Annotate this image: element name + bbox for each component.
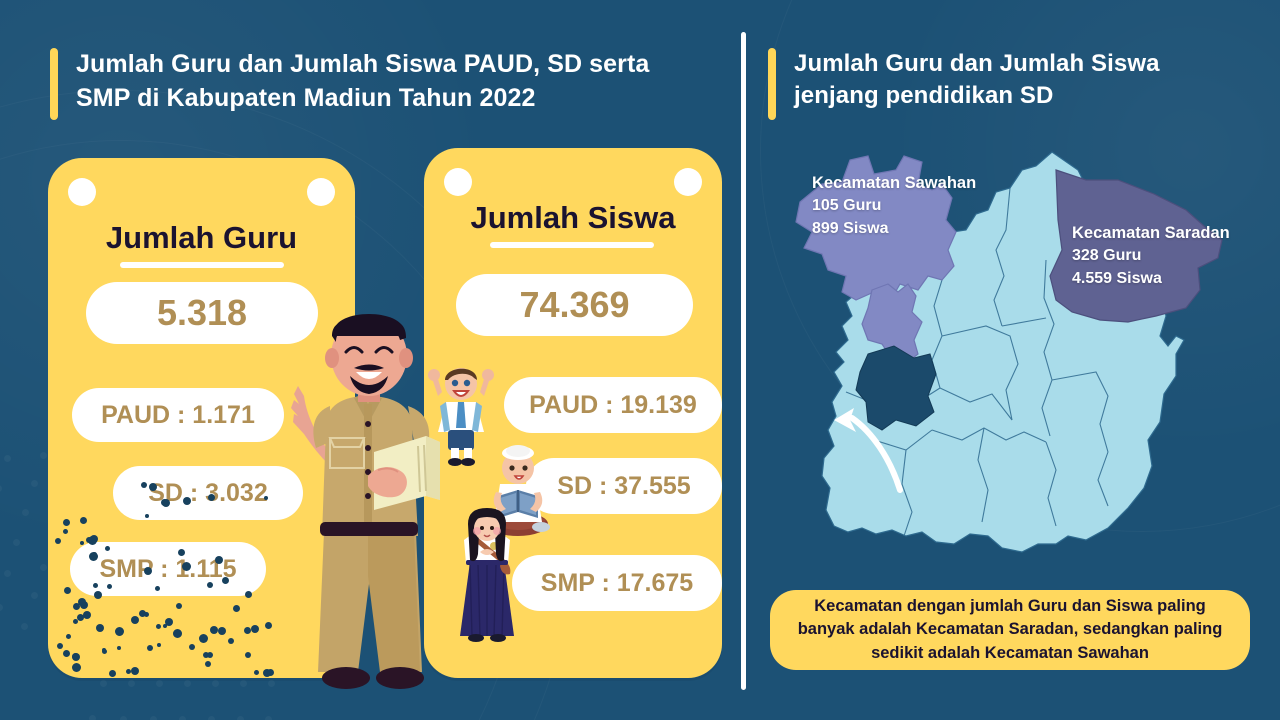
card-heading-guru: Jumlah Guru [48,220,355,256]
right-title-text: Jumlah Guru dan Jumlah Siswa jenjang pen… [794,48,1238,112]
sawahan-students: 899 Siswa [812,218,976,241]
card-hole-icon [444,168,472,196]
card-heading-rule [120,262,284,268]
saradan-students: 4.559 Siswa [1072,268,1230,291]
sawahan-teachers: 105 Guru [812,195,976,218]
right-panel-title: Jumlah Guru dan Jumlah Siswa jenjang pen… [768,48,1238,120]
girl-student-illustration [452,502,522,642]
siswa-sd-value: SD : 37.555 [526,458,722,514]
map-caption-text: Kecamatan dengan jumlah Guru dan Siswa p… [784,595,1236,665]
card-heading-rule [490,242,654,248]
saradan-name: Kecamatan Saradan [1072,222,1230,245]
siswa-smp-value: SMP : 17.675 [512,555,722,611]
card-dot-pattern [52,470,282,675]
title-accent-bar [50,48,58,120]
map-region-dark-patch [856,346,936,430]
sawahan-name: Kecamatan Sawahan [812,172,976,195]
siswa-total-value: 74.369 [456,274,693,336]
left-title-text: Jumlah Guru dan Jumlah Siswa PAUD, SD se… [76,48,710,115]
guru-paud-value: PAUD : 1.171 [72,388,284,442]
card-hole-icon [68,178,96,206]
vertical-divider [741,32,746,690]
saradan-teachers: 328 Guru [1072,245,1230,268]
title-accent-bar [768,48,776,120]
map-label-sawahan: Kecamatan Sawahan 105 Guru 899 Siswa [812,172,976,241]
card-hole-icon [307,178,335,206]
card-heading-siswa: Jumlah Siswa [424,200,722,236]
map-label-saradan: Kecamatan Saradan 328 Guru 4.559 Siswa [1072,222,1230,291]
map-caption-box: Kecamatan dengan jumlah Guru dan Siswa p… [770,590,1250,670]
siswa-paud-value: PAUD : 19.139 [504,377,722,433]
card-hole-icon [674,168,702,196]
left-panel-title: Jumlah Guru dan Jumlah Siswa PAUD, SD se… [50,48,710,120]
